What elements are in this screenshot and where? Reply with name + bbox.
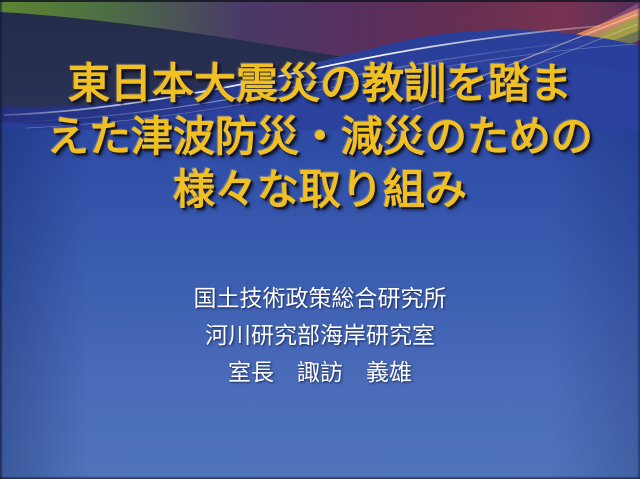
slide-edge-left xyxy=(0,0,3,479)
slide-title: 東日本大震災の教訓を踏ま えた津波防災・減災のための 様々な取り組み xyxy=(0,57,640,216)
slide-subtitle: 国土技術政策総合研究所 河川研究部海岸研究室 室長 諏訪 義雄 xyxy=(0,281,640,392)
title-line-3: 様々な取り組み xyxy=(0,163,640,216)
slide-edge-top xyxy=(0,0,640,2)
subtitle-line-department: 河川研究部海岸研究室 xyxy=(0,318,640,355)
subtitle-line-organization: 国土技術政策総合研究所 xyxy=(0,281,640,318)
title-line-1: 東日本大震災の教訓を踏ま xyxy=(0,57,640,110)
presentation-slide: 東日本大震災の教訓を踏ま えた津波防災・減災のための 様々な取り組み 国土技術政… xyxy=(0,0,640,479)
title-line-2: えた津波防災・減災のための xyxy=(0,110,640,163)
subtitle-line-presenter: 室長 諏訪 義雄 xyxy=(0,355,640,392)
